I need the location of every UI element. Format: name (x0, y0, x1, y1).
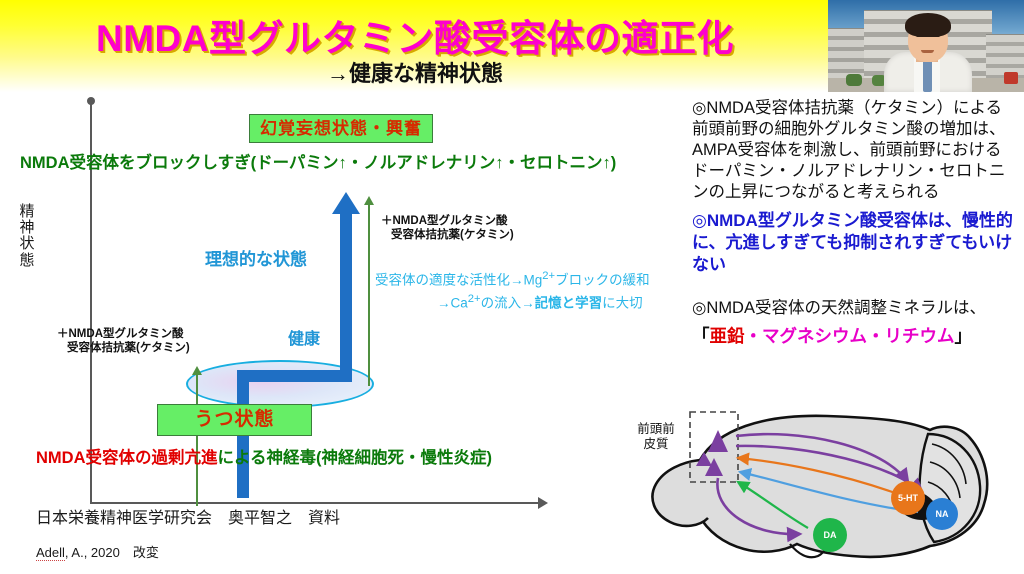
y-axis-label: 精 神 状 態 (14, 204, 40, 269)
cyan-note-line1-plain: 受容体の適度な活性化→Mg (375, 273, 542, 288)
y-axis-char-4: 態 (14, 253, 40, 269)
y-axis-char-2: 神 (14, 220, 40, 236)
cyan-note-line1-tail: ブロックの緩和 (555, 273, 650, 288)
note-receptor-activation: 受容体の適度な活性化→Mg2+ブロックの緩和 →Ca2+の流入→記憶と学習に大切 (375, 268, 650, 314)
mineral-zinc: 亜鉛 (710, 326, 745, 346)
annotation-ketamine-right: ＋NMDA型グルタミン酸 受容体拮抗薬(ケタミン) (381, 214, 514, 243)
green-arrow-left-head-icon (192, 366, 202, 375)
caption-depression-rest: による神経毒(神経細胞死・慢性炎症) (218, 449, 493, 467)
presenter-photo (828, 0, 1024, 92)
photo-eye-right (933, 34, 940, 37)
blue-arrow-head-icon (332, 192, 360, 214)
panel-bullet-1: ◎NMDA受容体拮抗薬（ケタミン）による前頭前野の細胞外グルタミン酸の増加は、A… (692, 98, 1016, 204)
cyan-note-line2-sup: 2+ (468, 293, 481, 305)
source-citation: Adell, A., 2020 改変 (36, 542, 159, 561)
status-badge-psychosis: 幻覚妄想状態・興奮 (249, 114, 433, 143)
caption-depression-emphasis: NMDA受容体の過剰亢進 (36, 449, 218, 467)
mineral-bracket-close: 」 (955, 326, 973, 346)
green-arrow-right-head-icon (364, 196, 374, 205)
blue-arrow-segment-lower (237, 382, 249, 498)
brain-diagram: 前頭前 皮質 5-HT NA DA (612, 404, 1024, 574)
green-arrow-left-line (196, 374, 198, 506)
slide-root: NMDA型グルタミン酸受容体の適正化 →健康な精神状態 精 神 状 態 (0, 0, 1024, 574)
pfc-label-line1: 前頭前 (632, 422, 680, 437)
concept-chart: 精 神 状 態 幻覚妄想状態・興奮 NMDA受容体をブロックしすぎ(ドーパミン↑… (0, 92, 670, 574)
annotation-right-line2: 受容体拮抗薬(ケタミン) (381, 228, 514, 242)
photo-eye-left (916, 34, 923, 37)
label-healthy: 健康 (288, 325, 320, 349)
source-citation-author: Adell (36, 545, 65, 561)
y-axis-cap (87, 97, 95, 105)
green-arrow-right-line (368, 204, 370, 386)
blue-arrow-segment-horizontal (237, 370, 352, 382)
y-axis-char-3: 状 (14, 236, 40, 252)
nucleus-label-5ht: 5-HT (892, 493, 924, 503)
source-citation-rest: , A., 2020 改変 (65, 545, 159, 560)
mineral-bracket-open: 「 (692, 326, 710, 346)
panel-bullet-3: ◎NMDA受容体の天然調整ミネラルは、 (692, 298, 1016, 319)
cyan-note-line2: →Ca2+の流入→記憶と学習に大切 (375, 291, 650, 314)
label-prefrontal-cortex: 前頭前 皮質 (632, 422, 680, 452)
blue-arrow-segment-upper (340, 210, 352, 378)
x-axis-arrow-icon (538, 497, 548, 509)
y-axis-char-1: 精 (14, 204, 40, 220)
nucleus-label-da: DA (816, 530, 844, 540)
photo-mouth (921, 50, 934, 53)
pfc-label-line2: 皮質 (632, 437, 680, 452)
nucleus-label-na: NA (928, 509, 956, 519)
panel-mineral-line: 「亜鉛・マグネシウム・リチウム」 (692, 325, 1016, 348)
caption-psychosis: NMDA受容体をブロックしすぎ(ドーパミン↑・ノルアドレナリン↑・セロトニン↑) (20, 149, 616, 173)
cyan-note-line2-tail: に大切 (602, 295, 643, 310)
explanation-panel: ◎NMDA受容体拮抗薬（ケタミン）による前頭前野の細胞外グルタミン酸の増加は、A… (692, 98, 1016, 354)
status-badge-depression: うつ状態 (157, 404, 312, 436)
annotation-left-line1: ＋NMDA型グルタミン酸 (57, 328, 184, 340)
brain-frontal-tip (652, 460, 708, 526)
photo-shrub-1 (846, 74, 862, 86)
mineral-rest: ・マグネシウム・リチウム (745, 326, 955, 346)
annotation-ketamine-left: ＋NMDA型グルタミン酸 受容体拮抗薬(ケタミン) (57, 327, 190, 356)
cyan-note-line2-strong: 記憶と学習 (535, 295, 603, 310)
page-subtitle: →健康な精神状態 (0, 56, 830, 88)
photo-red-object (1004, 72, 1018, 84)
panel-spacer (692, 282, 1016, 298)
cyan-note-line1-sup: 2+ (542, 270, 555, 282)
label-ideal-state: 理想的な状態 (205, 245, 307, 270)
cyan-note-line2-mid: の流入→ (481, 295, 535, 310)
page-title: NMDA型グルタミン酸受容体の適正化 (0, 8, 830, 62)
source-organization: 日本栄養精神医学研究会 奥平智之 資料 (36, 504, 340, 528)
annotation-right-line1: ＋NMDA型グルタミン酸 (381, 215, 508, 227)
photo-necktie (923, 60, 932, 92)
panel-bullet-2: ◎NMDA型グルタミン酸受容体は、慢性的に、亢進しすぎても抑制されすぎてもいけな… (692, 210, 1016, 276)
cyan-note-line2-plain: →Ca (437, 295, 468, 310)
photo-hair (905, 13, 951, 37)
caption-depression: NMDA受容体の過剰亢進による神経毒(神経細胞死・慢性炎症) (36, 444, 492, 468)
annotation-left-line2: 受容体拮抗薬(ケタミン) (57, 341, 190, 355)
